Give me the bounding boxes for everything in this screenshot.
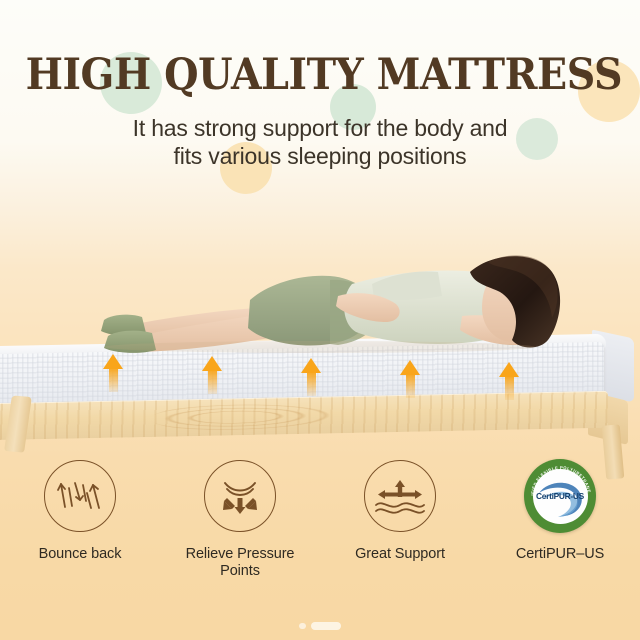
feature-label: Bounce back	[39, 546, 122, 563]
feature-row: Bounce back Relieve Pres	[0, 460, 640, 600]
feature-certipur-us[interactable]: CERTIFIED FLEXIBLE POLYURETHANE FOAM WWW…	[480, 460, 640, 600]
support-arrow-icon	[499, 362, 520, 400]
subtitle-line-2: fits various sleeping positions	[0, 142, 640, 170]
certipur-us-badge-icon: CERTIFIED FLEXIBLE POLYURETHANE FOAM WWW…	[524, 460, 596, 532]
feature-bounce-back[interactable]: Bounce back	[0, 460, 160, 600]
great-support-icon	[364, 460, 436, 532]
subtitle-line-1: It has strong support for the body and	[0, 114, 640, 142]
bounce-back-icon	[44, 460, 116, 532]
model-illustration	[0, 200, 640, 460]
relieve-pressure-points-icon	[204, 460, 276, 532]
feature-label: CertiPUR–US	[516, 546, 604, 563]
carousel-indicator[interactable]	[0, 612, 640, 640]
feature-great-support[interactable]: Great Support	[320, 460, 480, 600]
feature-label: Relieve Pressure Points	[180, 546, 300, 580]
support-arrow-icon	[103, 354, 124, 392]
product-listing-image: HIGH QUALITY MATTRESS It has strong supp…	[0, 0, 640, 640]
carousel-dot[interactable]	[299, 623, 306, 629]
feature-label: Great Support	[355, 546, 445, 563]
support-arrow-icon	[400, 360, 421, 398]
page-subtitle: It has strong support for the body and f…	[0, 114, 640, 170]
product-scene	[0, 200, 640, 460]
carousel-dot-active[interactable]	[311, 622, 341, 630]
support-arrow-icon	[301, 358, 322, 396]
header-block: HIGH QUALITY MATTRESS It has strong supp…	[0, 0, 640, 200]
support-arrow-icon	[202, 356, 223, 394]
feature-relieve-pressure-points[interactable]: Relieve Pressure Points	[160, 460, 320, 600]
certipur-inner-disc: CertiPUR-US	[533, 469, 588, 524]
certipur-wordmark: CertiPUR-US	[536, 491, 584, 501]
certipur-outer-ring: CERTIFIED FLEXIBLE POLYURETHANE FOAM WWW…	[524, 459, 596, 533]
page-title: HIGH QUALITY MATTRESS	[26, 54, 615, 97]
